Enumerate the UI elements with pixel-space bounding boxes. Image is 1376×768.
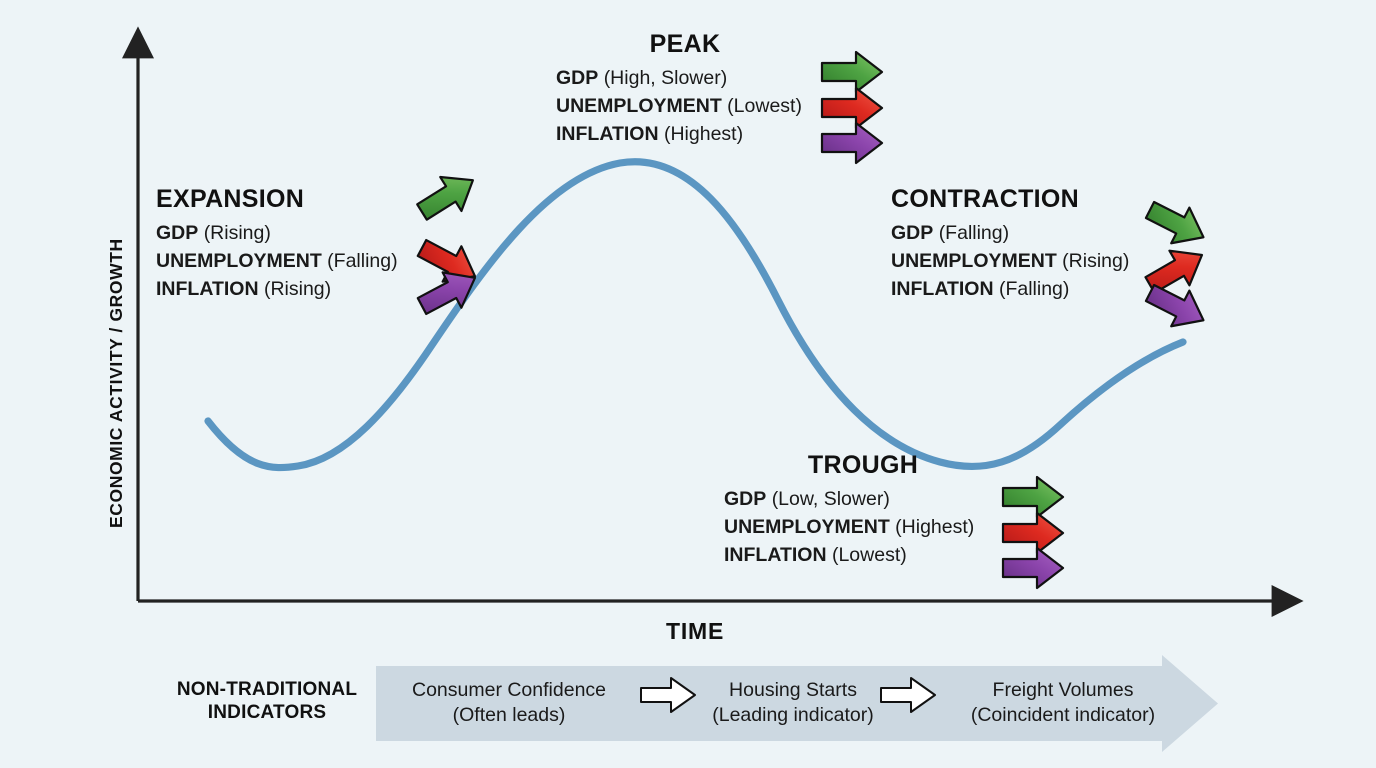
indicator-connectors (0, 0, 1376, 768)
indicator-item-housing-starts[interactable]: Housing Starts (Leading indicator) (700, 678, 886, 729)
indicator-title: Housing Starts (700, 678, 886, 703)
diagram-canvas: ECONOMIC ACTIVITY / GROWTH TIME EXPANSIO… (0, 0, 1376, 768)
right-arrow-icon (881, 678, 935, 712)
indicator-subtitle: (Leading indicator) (700, 703, 886, 728)
indicator-title: Freight Volumes (938, 678, 1188, 703)
indicator-item-freight-volumes[interactable]: Freight Volumes (Coincident indicator) (938, 678, 1188, 729)
right-arrow-icon (641, 678, 695, 712)
indicator-subtitle: (Coincident indicator) (938, 703, 1188, 728)
